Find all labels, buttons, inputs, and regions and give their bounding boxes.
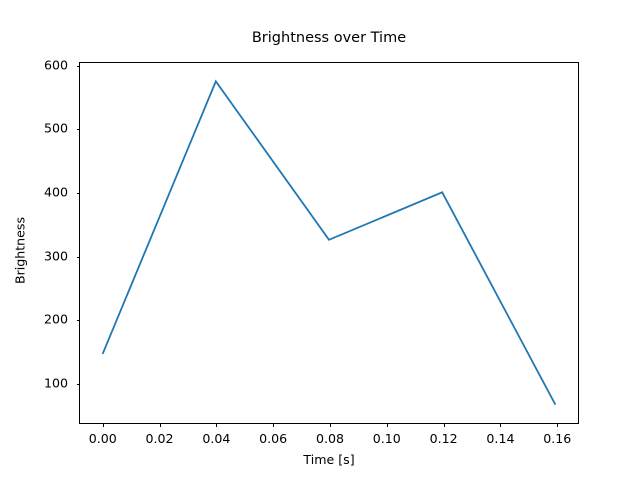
plot-area: 0.000.020.040.060.080.100.120.140.16 [79, 62, 579, 424]
x-tick-mark [330, 423, 331, 427]
y-tick-mark [77, 193, 81, 194]
y-tick-mark [77, 320, 81, 321]
x-tick-mark [444, 423, 445, 427]
chart-title: Brightness over Time [79, 30, 579, 46]
data-line-brightness [103, 81, 556, 404]
y-tick-label: 200 [0, 312, 68, 327]
chart-figure: Brightness over Time 0.000.020.040.060.0… [0, 0, 640, 480]
y-tick-label: 500 [0, 121, 68, 136]
x-tick-mark [500, 423, 501, 427]
x-axis-label: Time [s] [79, 452, 579, 467]
line-series-svg [80, 63, 578, 423]
y-tick-label: 600 [0, 57, 68, 72]
x-tick-mark [103, 423, 104, 427]
y-tick-mark [77, 66, 81, 67]
y-tick-label: 400 [0, 185, 68, 200]
y-tick-mark [77, 129, 81, 130]
x-tick-label: 0.16 [522, 431, 592, 446]
y-tick-label: 100 [0, 376, 68, 391]
x-tick-mark [160, 423, 161, 427]
y-tick-label: 300 [0, 248, 68, 263]
y-tick-mark [77, 257, 81, 258]
x-tick-mark [216, 423, 217, 427]
y-tick-mark [77, 384, 81, 385]
x-tick-mark [273, 423, 274, 427]
x-tick-mark [557, 423, 558, 427]
x-tick-mark [387, 423, 388, 427]
